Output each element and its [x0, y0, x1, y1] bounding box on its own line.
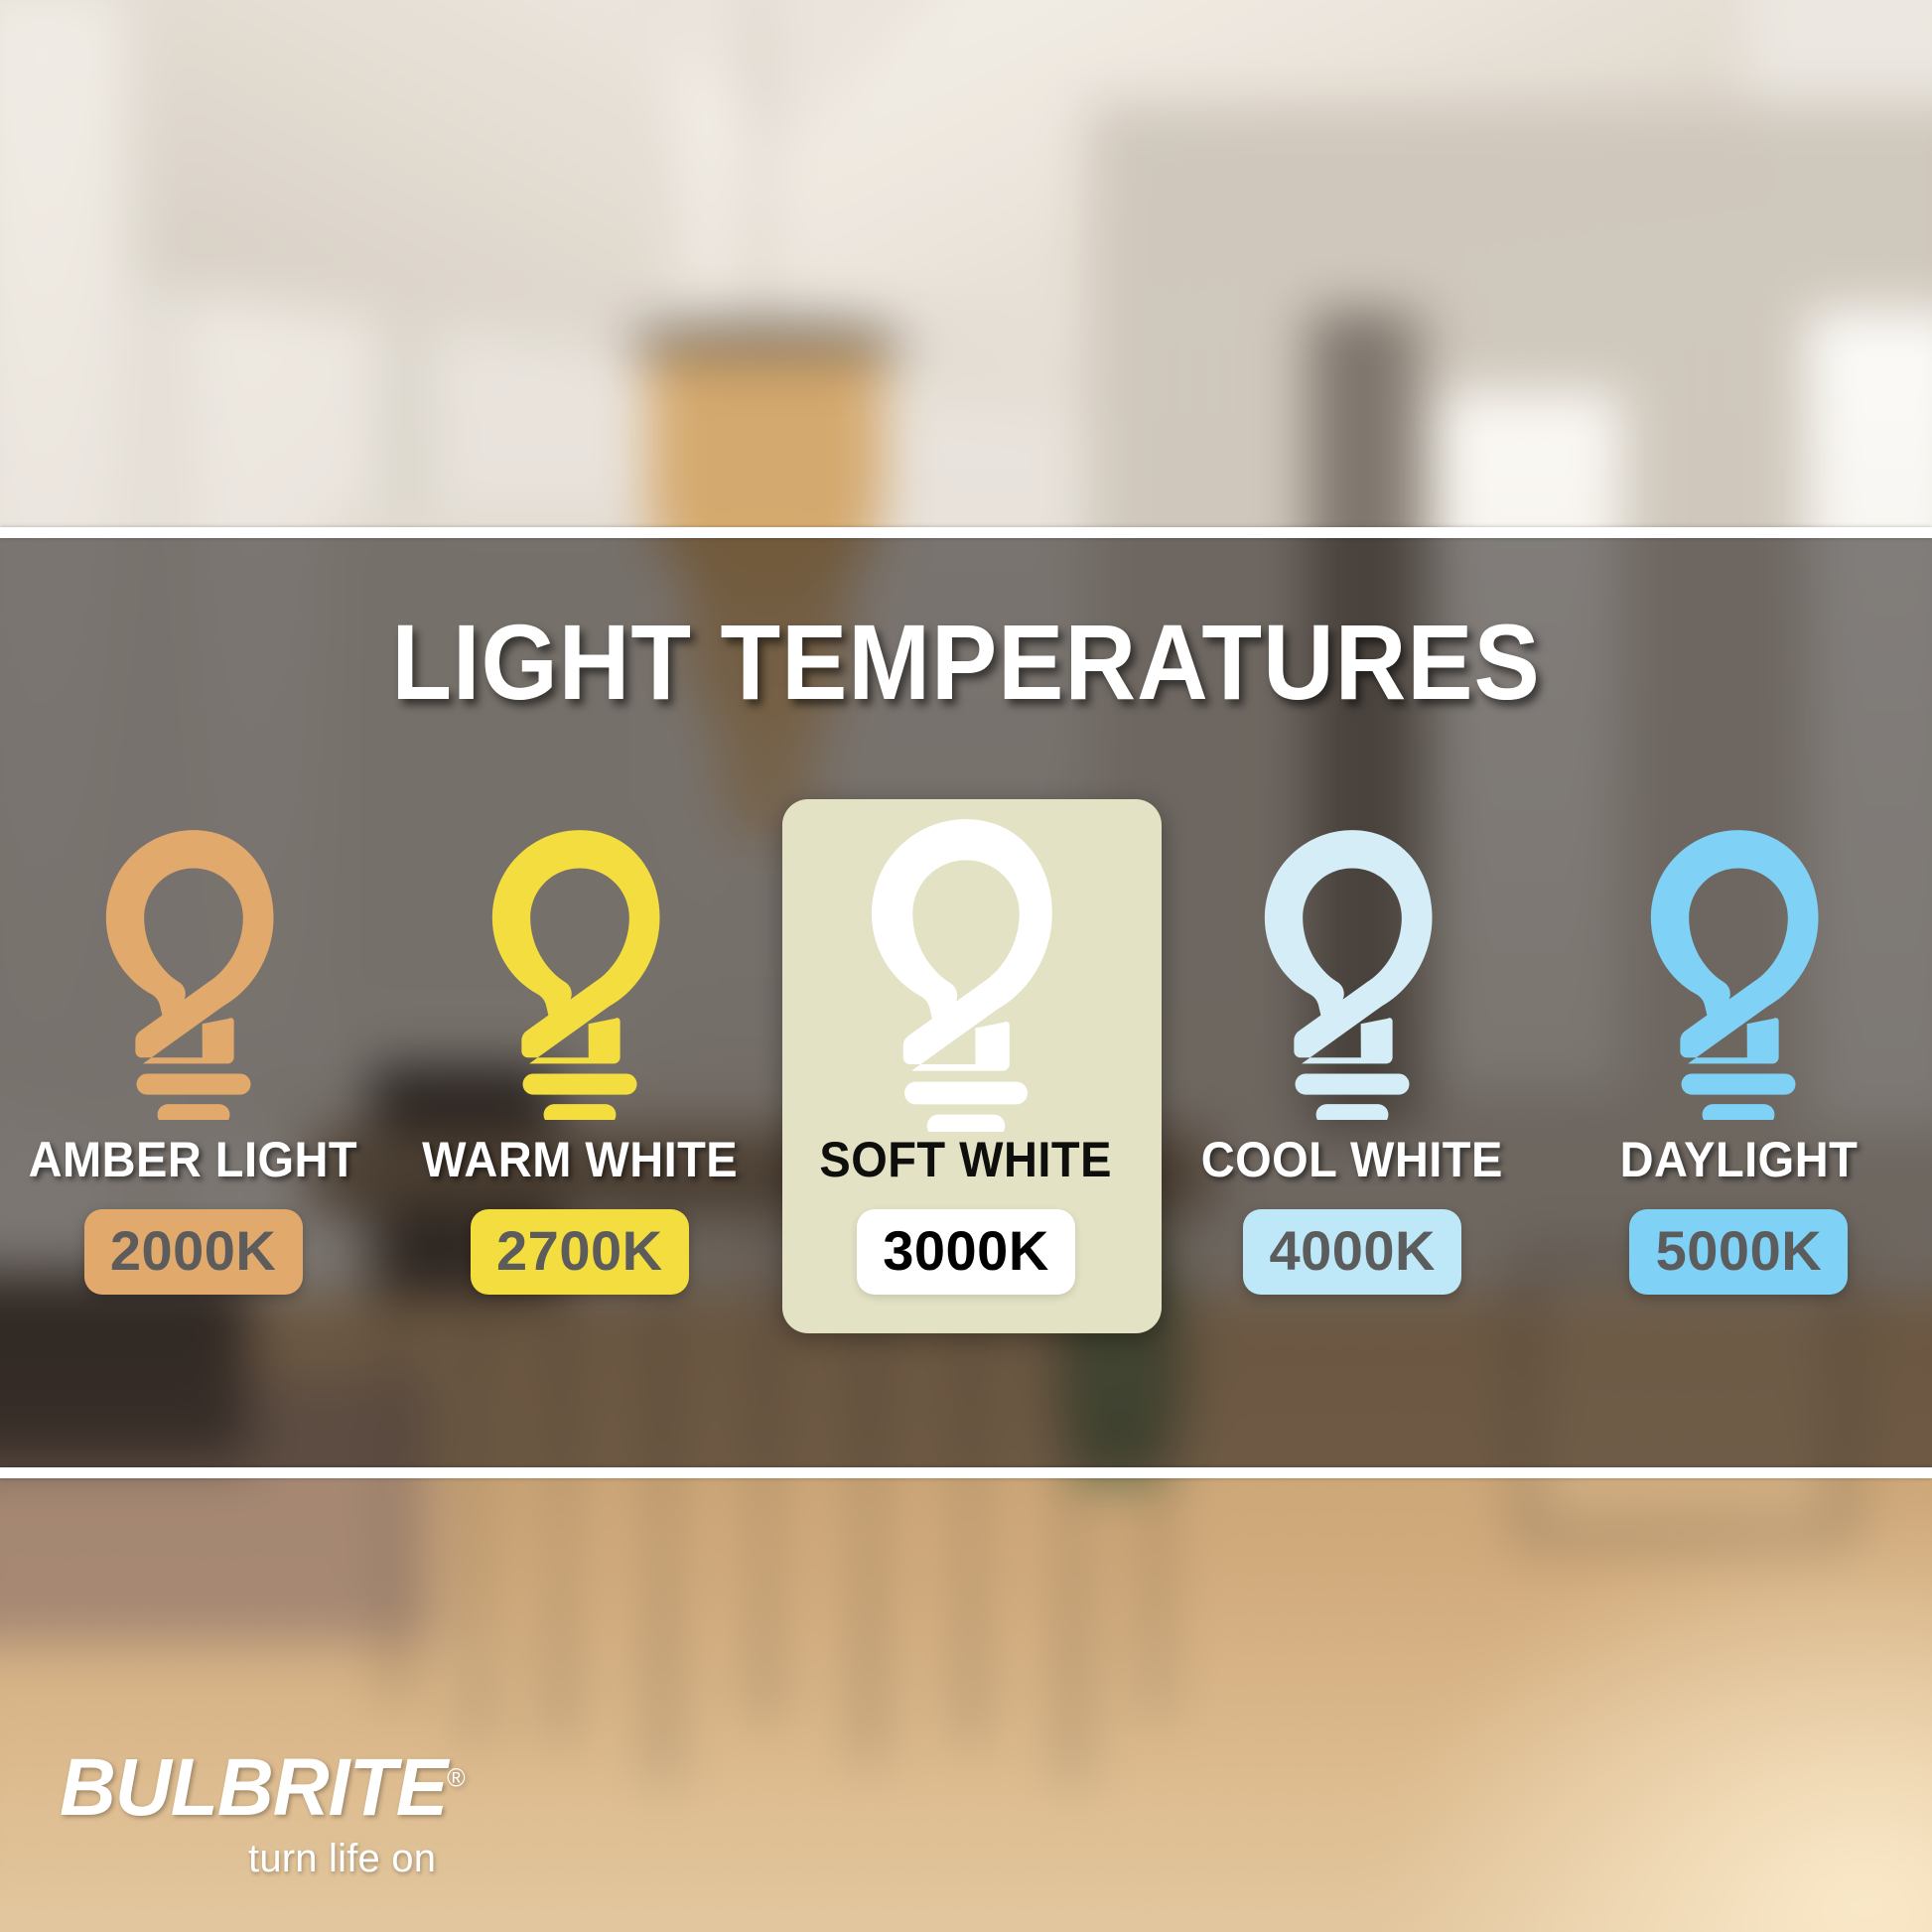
lightbulb-icon [1238, 817, 1466, 1125]
lightbulb-glyph [492, 830, 660, 1120]
divider-top [0, 527, 1932, 538]
temperature-label: SOFT WHITE [820, 1135, 1113, 1184]
kelvin-badge: 4000K [1243, 1209, 1461, 1295]
lightbulb-glyph [1265, 830, 1433, 1120]
sunlight-glow [1376, 1499, 1932, 1932]
lightbulb-icon [79, 817, 308, 1125]
temperature-label: DAYLIGHT [1620, 1135, 1859, 1184]
temperature-column-cool-white[interactable]: COOL WHITE 4000K [1160, 799, 1546, 1395]
temperature-column-warm-white[interactable]: WARM WHITE 2700K [386, 799, 772, 1395]
light-temperature-row: AMBER LIGHT 2000K WARM WHITE 2700K [0, 799, 1932, 1395]
kelvin-badge: 2700K [471, 1209, 689, 1295]
temperature-label: WARM WHITE [422, 1135, 738, 1184]
brand-logo: BULBRITE® turn life on [60, 1747, 482, 1878]
lightbulb-glyph [1651, 830, 1819, 1120]
kelvin-badge: 3000K [857, 1209, 1075, 1295]
page-title: LIGHT TEMPERATURES [77, 609, 1855, 716]
brand-tagline: turn life on [248, 1839, 482, 1878]
lightbulb-glyph [872, 819, 1052, 1132]
lightbulb-glyph [105, 830, 273, 1120]
brand-name: BULBRITE [60, 1742, 447, 1833]
temperature-column-soft-white[interactable]: SOFT WHITE 3000K [772, 799, 1159, 1395]
lightbulb-icon [1624, 817, 1853, 1125]
registered-trademark-icon: ® [447, 1763, 464, 1793]
lightbulb-icon [466, 817, 694, 1125]
divider-bottom [0, 1467, 1932, 1478]
temperature-label: AMBER LIGHT [29, 1135, 358, 1184]
lightbulb-icon [843, 817, 1089, 1125]
kelvin-badge: 5000K [1629, 1209, 1848, 1295]
kelvin-badge: 2000K [84, 1209, 303, 1295]
infographic-canvas: LIGHT TEMPERATURES AMBER LIGHT 2000K [0, 0, 1932, 1932]
temperature-label: COOL WHITE [1201, 1135, 1503, 1184]
temperature-column-amber-light[interactable]: AMBER LIGHT 2000K [0, 799, 386, 1395]
brand-wordmark: BULBRITE® [60, 1747, 465, 1829]
temperature-column-daylight[interactable]: DAYLIGHT 5000K [1546, 799, 1932, 1395]
top-band-overlay [0, 0, 1932, 538]
